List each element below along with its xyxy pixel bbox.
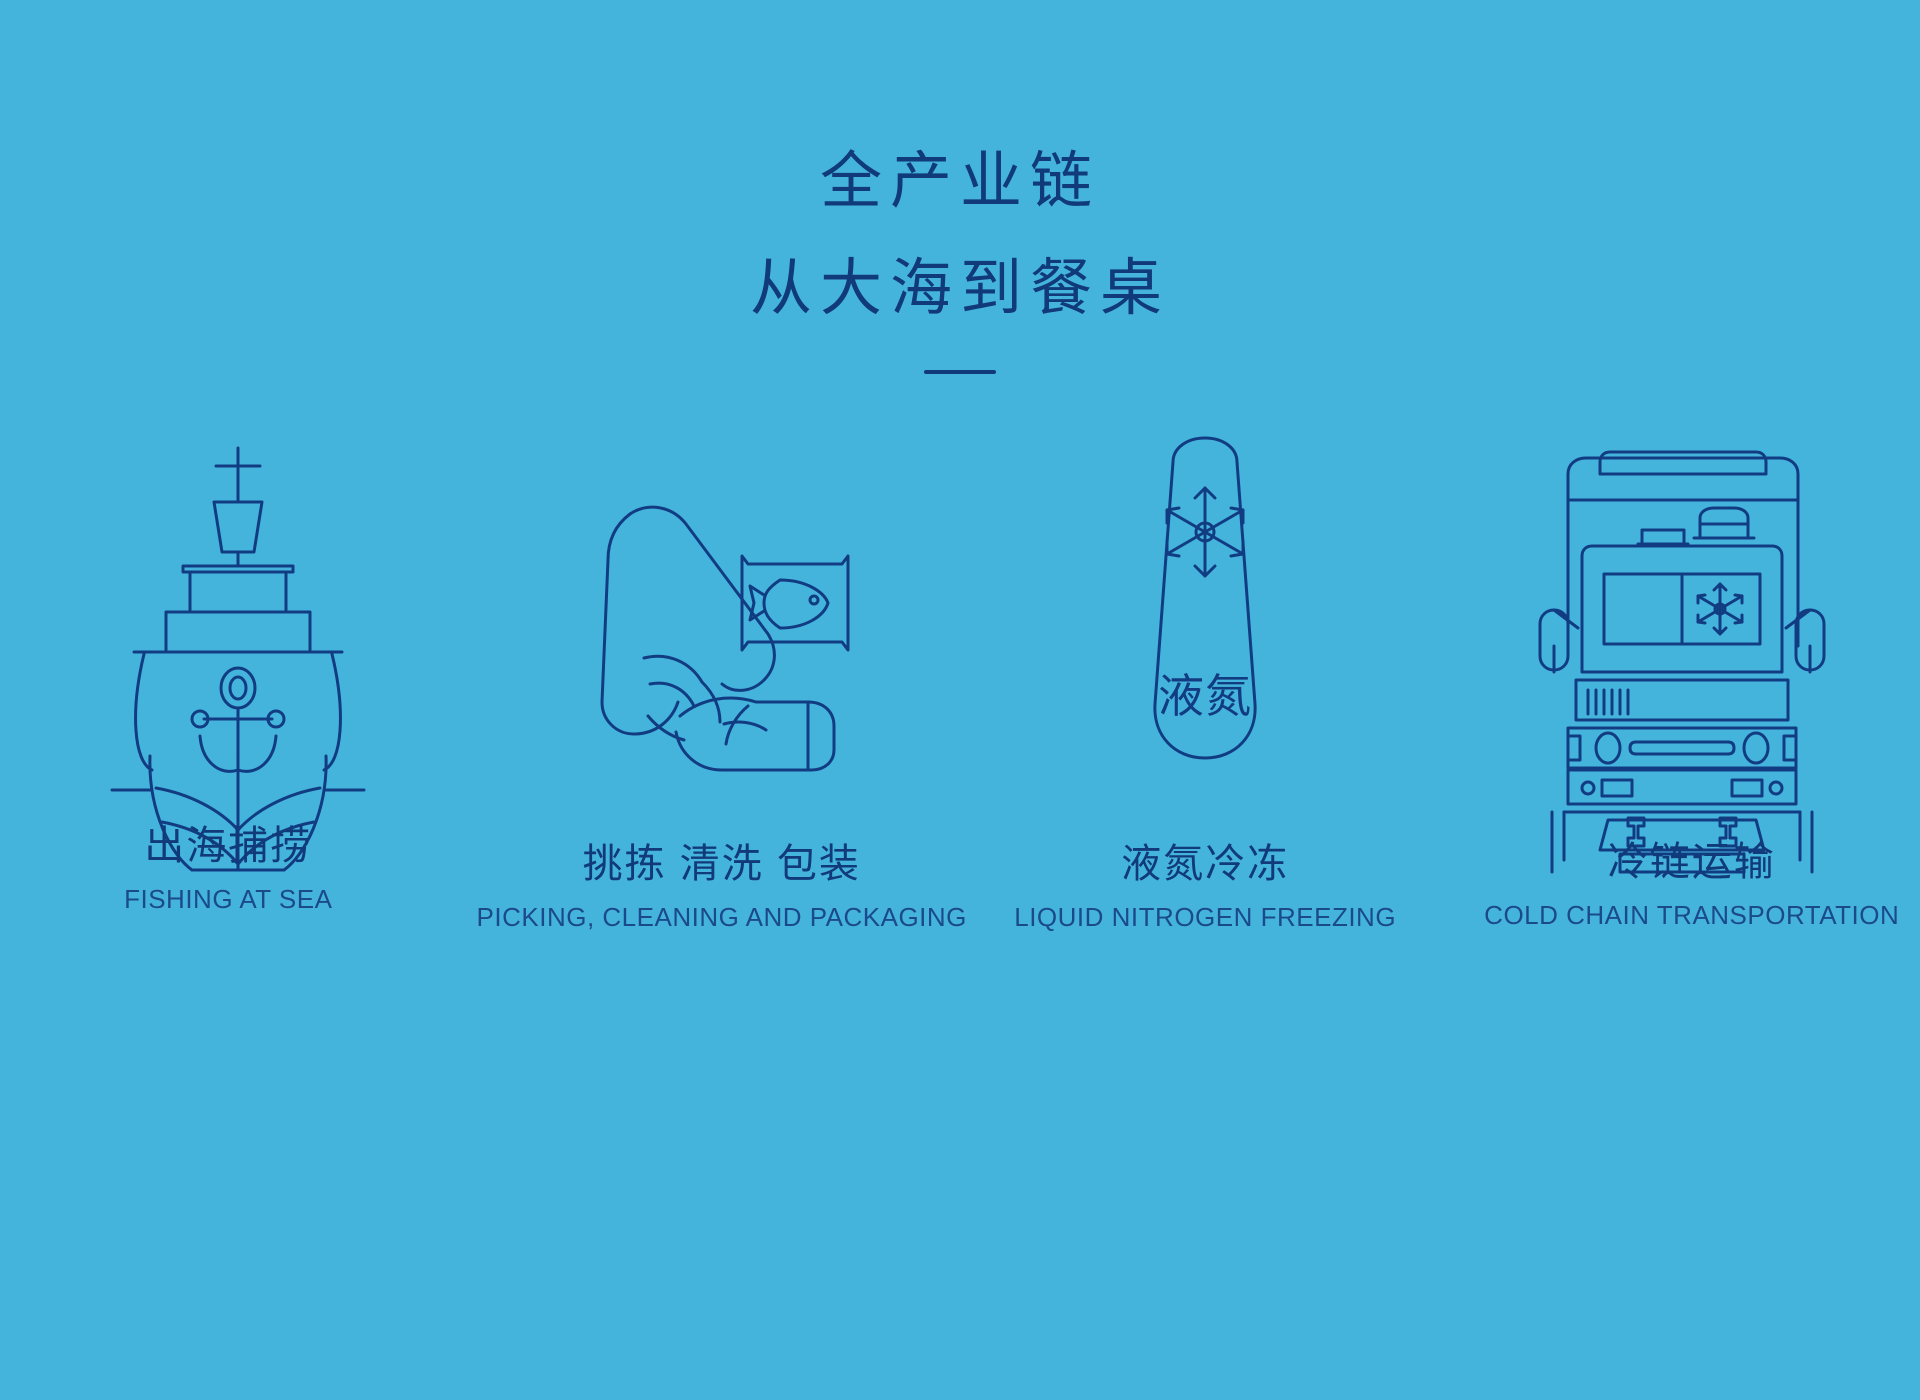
page-title-line-2: 从大海到餐桌 xyxy=(0,257,1920,322)
process-steps: 出海捕捞 FISHING AT SEA xyxy=(0,430,1920,933)
tank-label: 液氮 xyxy=(1158,670,1252,722)
snowflake-icon xyxy=(1698,584,1742,634)
title-divider-wrap xyxy=(0,370,1920,374)
step-labels: 液氮冷冻 LIQUID NITROGEN FREEZING xyxy=(1014,842,1396,933)
step-label-en: LIQUID NITROGEN FREEZING xyxy=(1014,902,1396,933)
step-labels: 冷链运输 COLD CHAIN TRANSPORTATION xyxy=(1484,840,1899,931)
snowflake-icon xyxy=(1167,488,1243,576)
hands-with-packaged-fish-icon xyxy=(572,430,872,770)
step-cold-chain-transportation: 冷链运输 COLD CHAIN TRANSPORTATION xyxy=(1443,430,1920,931)
step-label-en: COLD CHAIN TRANSPORTATION xyxy=(1484,900,1899,931)
step-labels: 挑拣 清洗 包装 PICKING, CLEANING AND PACKAGING xyxy=(477,842,967,933)
step-label-cn: 冷链运输 xyxy=(1484,840,1899,884)
header: 全产业链 从大海到餐桌 xyxy=(0,150,1920,374)
refrigerated-truck-icon xyxy=(1532,430,1832,770)
page-title-line-1: 全产业链 xyxy=(0,150,1920,215)
step-label-en: FISHING AT SEA xyxy=(124,884,332,915)
step-label-cn: 挑拣 清洗 包装 xyxy=(477,842,967,886)
step-liquid-nitrogen-freezing: 液氮 液氮冷冻 LIQUID NITROGEN FREEZING xyxy=(967,430,1444,933)
step-label-cn: 出海捕捞 xyxy=(124,824,332,868)
step-label-en: PICKING, CLEANING AND PACKAGING xyxy=(477,902,967,933)
step-picking-cleaning-packaging: 挑拣 清洗 包装 PICKING, CLEANING AND PACKAGING xyxy=(477,430,967,933)
step-label-cn: 液氮冷冻 xyxy=(1014,842,1396,886)
title-divider xyxy=(924,370,996,374)
step-fishing-at-sea: 出海捕捞 FISHING AT SEA xyxy=(0,430,477,915)
fishing-boat-icon xyxy=(108,430,368,770)
step-labels: 出海捕捞 FISHING AT SEA xyxy=(124,824,332,915)
infographic-page: 全产业链 从大海到餐桌 xyxy=(0,0,1920,1400)
liquid-nitrogen-tank-icon: 液氮 xyxy=(1125,430,1285,770)
